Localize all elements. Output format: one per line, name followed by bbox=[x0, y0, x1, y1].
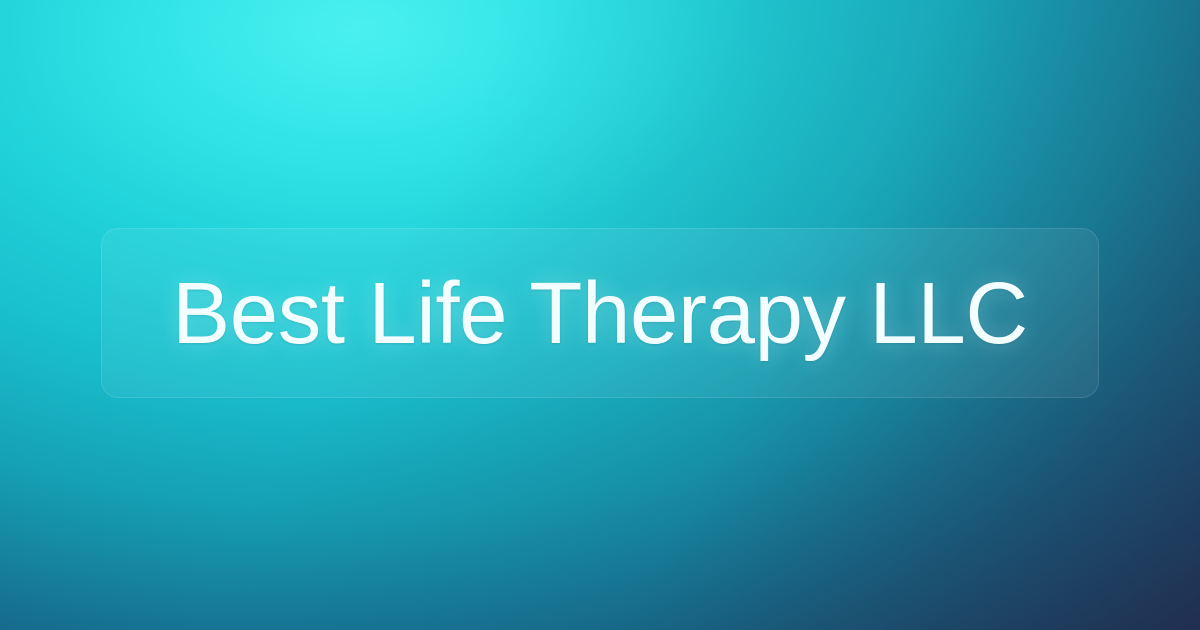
page-title: Best Life Therapy LLC bbox=[172, 270, 1028, 357]
title-card: Best Life Therapy LLC bbox=[101, 228, 1099, 398]
social-card-canvas: Best Life Therapy LLC bbox=[0, 0, 1200, 630]
